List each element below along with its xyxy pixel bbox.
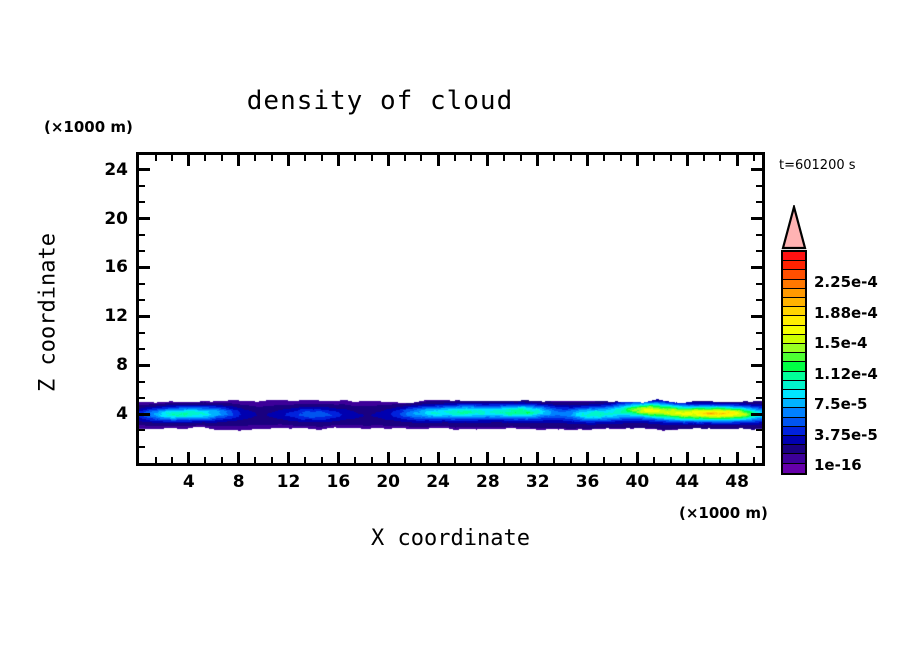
colorbar-tick-label: 1.12e-4 (814, 365, 878, 383)
x-tick-label: 20 (376, 472, 400, 492)
colorbar-band (783, 252, 805, 261)
x-tick-minor-top (271, 155, 273, 161)
x-tick-minor (587, 457, 589, 463)
y-tick-minor-right (756, 283, 762, 285)
colorbar-tick-label: 1.5e-4 (814, 334, 867, 352)
colorbar-band (783, 353, 805, 362)
colorbar-band (783, 454, 805, 463)
x-tick-minor-top (304, 155, 306, 161)
x-tick-minor-top (238, 155, 240, 161)
x-tick-major-top (337, 155, 340, 166)
x-tick-label: 40 (626, 472, 650, 492)
y-tick-minor-right (756, 299, 762, 301)
x-tick-minor (204, 457, 206, 463)
colorbar-band (783, 408, 805, 417)
colorbar-band (783, 307, 805, 316)
y-tick-minor-right (756, 397, 762, 399)
x-tick-label: 12 (277, 472, 301, 492)
y-tick-minor-right (756, 429, 762, 431)
y-tick-minor (139, 218, 145, 220)
colorbar-band (783, 436, 805, 445)
x-tick-minor-top (254, 155, 256, 161)
y-tick-minor-right (756, 381, 762, 383)
cloud-density-field (139, 155, 762, 463)
x-tick-label: 36 (576, 472, 600, 492)
y-tick-minor-right (756, 218, 762, 220)
x-tick-major (187, 452, 190, 463)
x-tick-label: 16 (327, 472, 351, 492)
x-tick-minor-top (520, 155, 522, 161)
y-tick-label: 16 (88, 257, 128, 277)
x-tick-minor-top (155, 155, 157, 161)
x-tick-minor-top (603, 155, 605, 161)
x-tick-major-top (736, 155, 739, 166)
y-tick-minor-right (756, 348, 762, 350)
x-tick-minor (304, 457, 306, 463)
y-tick-minor (139, 283, 145, 285)
x-axis-unit-label: (×1000 m) (679, 504, 768, 522)
x-tick-minor (271, 457, 273, 463)
plot-area[interactable] (136, 152, 765, 466)
x-tick-minor (537, 457, 539, 463)
colorbar-band (783, 261, 805, 270)
x-tick-minor (653, 457, 655, 463)
y-axis-unit-label: (×1000 m) (44, 118, 133, 136)
colorbar-band (783, 372, 805, 381)
x-tick-minor (470, 457, 472, 463)
colorbar-band (783, 270, 805, 279)
x-tick-major (287, 452, 290, 463)
figure-title: density of cloud (0, 86, 760, 116)
x-tick-minor-top (653, 155, 655, 161)
y-tick-major (139, 315, 150, 318)
colorbar-band (783, 362, 805, 371)
x-tick-minor (321, 457, 323, 463)
x-tick-minor-top (454, 155, 456, 161)
x-tick-minor-top (537, 155, 539, 161)
colorbar-tick-label: 2.25e-4 (814, 273, 878, 291)
colorbar[interactable] (781, 250, 807, 475)
x-tick-major (736, 452, 739, 463)
x-tick-minor (487, 457, 489, 463)
y-tick-minor (139, 364, 145, 366)
y-tick-minor-right (756, 169, 762, 171)
y-tick-minor-right (756, 332, 762, 334)
x-tick-label: 4 (183, 472, 195, 492)
x-tick-major-top (187, 155, 190, 166)
y-tick-major (139, 413, 150, 416)
y-tick-minor-right (756, 250, 762, 252)
colorbar-band (783, 316, 805, 325)
x-tick-label: 44 (675, 472, 699, 492)
x-tick-minor (387, 457, 389, 463)
x-tick-minor (503, 457, 505, 463)
x-tick-minor-top (487, 155, 489, 161)
x-tick-minor (437, 457, 439, 463)
y-tick-minor-right (756, 364, 762, 366)
y-tick-major-right (751, 266, 762, 269)
y-tick-minor (139, 429, 145, 431)
x-tick-label: 28 (476, 472, 500, 492)
x-tick-label: 24 (426, 472, 450, 492)
colorbar-band (783, 445, 805, 454)
x-tick-minor-top (204, 155, 206, 161)
x-tick-minor (371, 457, 373, 463)
colorbar-over-arrow (781, 205, 807, 250)
x-tick-minor (254, 457, 256, 463)
x-tick-minor (420, 457, 422, 463)
colorbar-band (783, 418, 805, 427)
x-tick-minor (670, 457, 672, 463)
x-tick-label: 8 (233, 472, 245, 492)
colorbar-band (783, 326, 805, 335)
x-tick-major-top (287, 155, 290, 166)
colorbar-band (783, 280, 805, 289)
colorbar-band (783, 298, 805, 307)
y-tick-label: 12 (88, 306, 128, 326)
y-tick-minor-right (756, 185, 762, 187)
y-tick-minor (139, 299, 145, 301)
time-annotation: t=601200 s (779, 158, 856, 173)
y-tick-minor (139, 185, 145, 187)
x-tick-minor (520, 457, 522, 463)
x-tick-minor-top (553, 155, 555, 161)
x-tick-label: 32 (526, 472, 550, 492)
x-tick-minor-top (703, 155, 705, 161)
x-tick-minor-top (171, 155, 173, 161)
x-tick-major (337, 452, 340, 463)
x-tick-minor (404, 457, 406, 463)
figure-root: density of cloud (×1000 m) t=601200 s 48… (0, 0, 904, 654)
x-tick-minor-top (404, 155, 406, 161)
colorbar-tick-label: 1e-16 (814, 456, 862, 474)
x-tick-minor (354, 457, 356, 463)
x-tick-minor-top (570, 155, 572, 161)
colorbar-band (783, 344, 805, 353)
y-tick-minor (139, 332, 145, 334)
y-tick-minor-right (756, 446, 762, 448)
colorbar-band (783, 381, 805, 390)
x-tick-major-top (686, 155, 689, 166)
x-tick-minor (703, 457, 705, 463)
y-tick-label: 24 (88, 160, 128, 180)
x-tick-major-top (636, 155, 639, 166)
colorbar-tick-label: 1.88e-4 (814, 304, 878, 322)
y-tick-minor-right (756, 234, 762, 236)
x-tick-minor (238, 457, 240, 463)
x-tick-minor (570, 457, 572, 463)
x-tick-major (636, 452, 639, 463)
y-tick-minor-right (756, 201, 762, 203)
x-tick-minor-top (437, 155, 439, 161)
x-tick-minor-top (387, 155, 389, 161)
x-tick-minor-top (221, 155, 223, 161)
x-tick-major (686, 452, 689, 463)
x-axis-title: X coordinate (136, 526, 765, 551)
x-tick-minor-top (420, 155, 422, 161)
y-tick-minor (139, 446, 145, 448)
colorbar-band (783, 335, 805, 344)
x-tick-minor (753, 457, 755, 463)
y-tick-major (139, 266, 150, 269)
colorbar-band (783, 399, 805, 408)
colorbar-band (783, 289, 805, 298)
y-tick-minor (139, 250, 145, 252)
x-tick-minor-top (719, 155, 721, 161)
x-tick-minor (155, 457, 157, 463)
y-tick-minor (139, 234, 145, 236)
colorbar-band (783, 390, 805, 399)
y-tick-label: 20 (88, 209, 128, 229)
x-tick-minor-top (503, 155, 505, 161)
x-tick-label: 48 (725, 472, 749, 492)
y-tick-minor (139, 381, 145, 383)
colorbar-tick-label: 3.75e-5 (814, 426, 878, 444)
x-tick-minor-top (470, 155, 472, 161)
y-tick-major-right (751, 315, 762, 318)
y-tick-minor (139, 397, 145, 399)
x-tick-minor-top (587, 155, 589, 161)
x-tick-minor-top (371, 155, 373, 161)
x-tick-minor-top (321, 155, 323, 161)
y-tick-label: 8 (88, 355, 128, 375)
x-tick-minor-top (670, 155, 672, 161)
x-tick-minor (719, 457, 721, 463)
colorbar-band (783, 464, 805, 473)
x-tick-minor-top (620, 155, 622, 161)
colorbar-tick-label: 7.5e-5 (814, 395, 867, 413)
x-tick-minor (553, 457, 555, 463)
y-tick-minor (139, 169, 145, 171)
y-tick-major-right (751, 413, 762, 416)
x-tick-minor (620, 457, 622, 463)
y-tick-minor (139, 201, 145, 203)
y-tick-minor (139, 348, 145, 350)
x-tick-minor (603, 457, 605, 463)
x-tick-minor (171, 457, 173, 463)
y-tick-label: 4 (88, 404, 128, 424)
x-tick-minor-top (753, 155, 755, 161)
colorbar-band (783, 427, 805, 436)
x-tick-minor (454, 457, 456, 463)
y-axis-title: Z coordinate (36, 203, 61, 423)
x-tick-minor (221, 457, 223, 463)
x-tick-minor-top (354, 155, 356, 161)
